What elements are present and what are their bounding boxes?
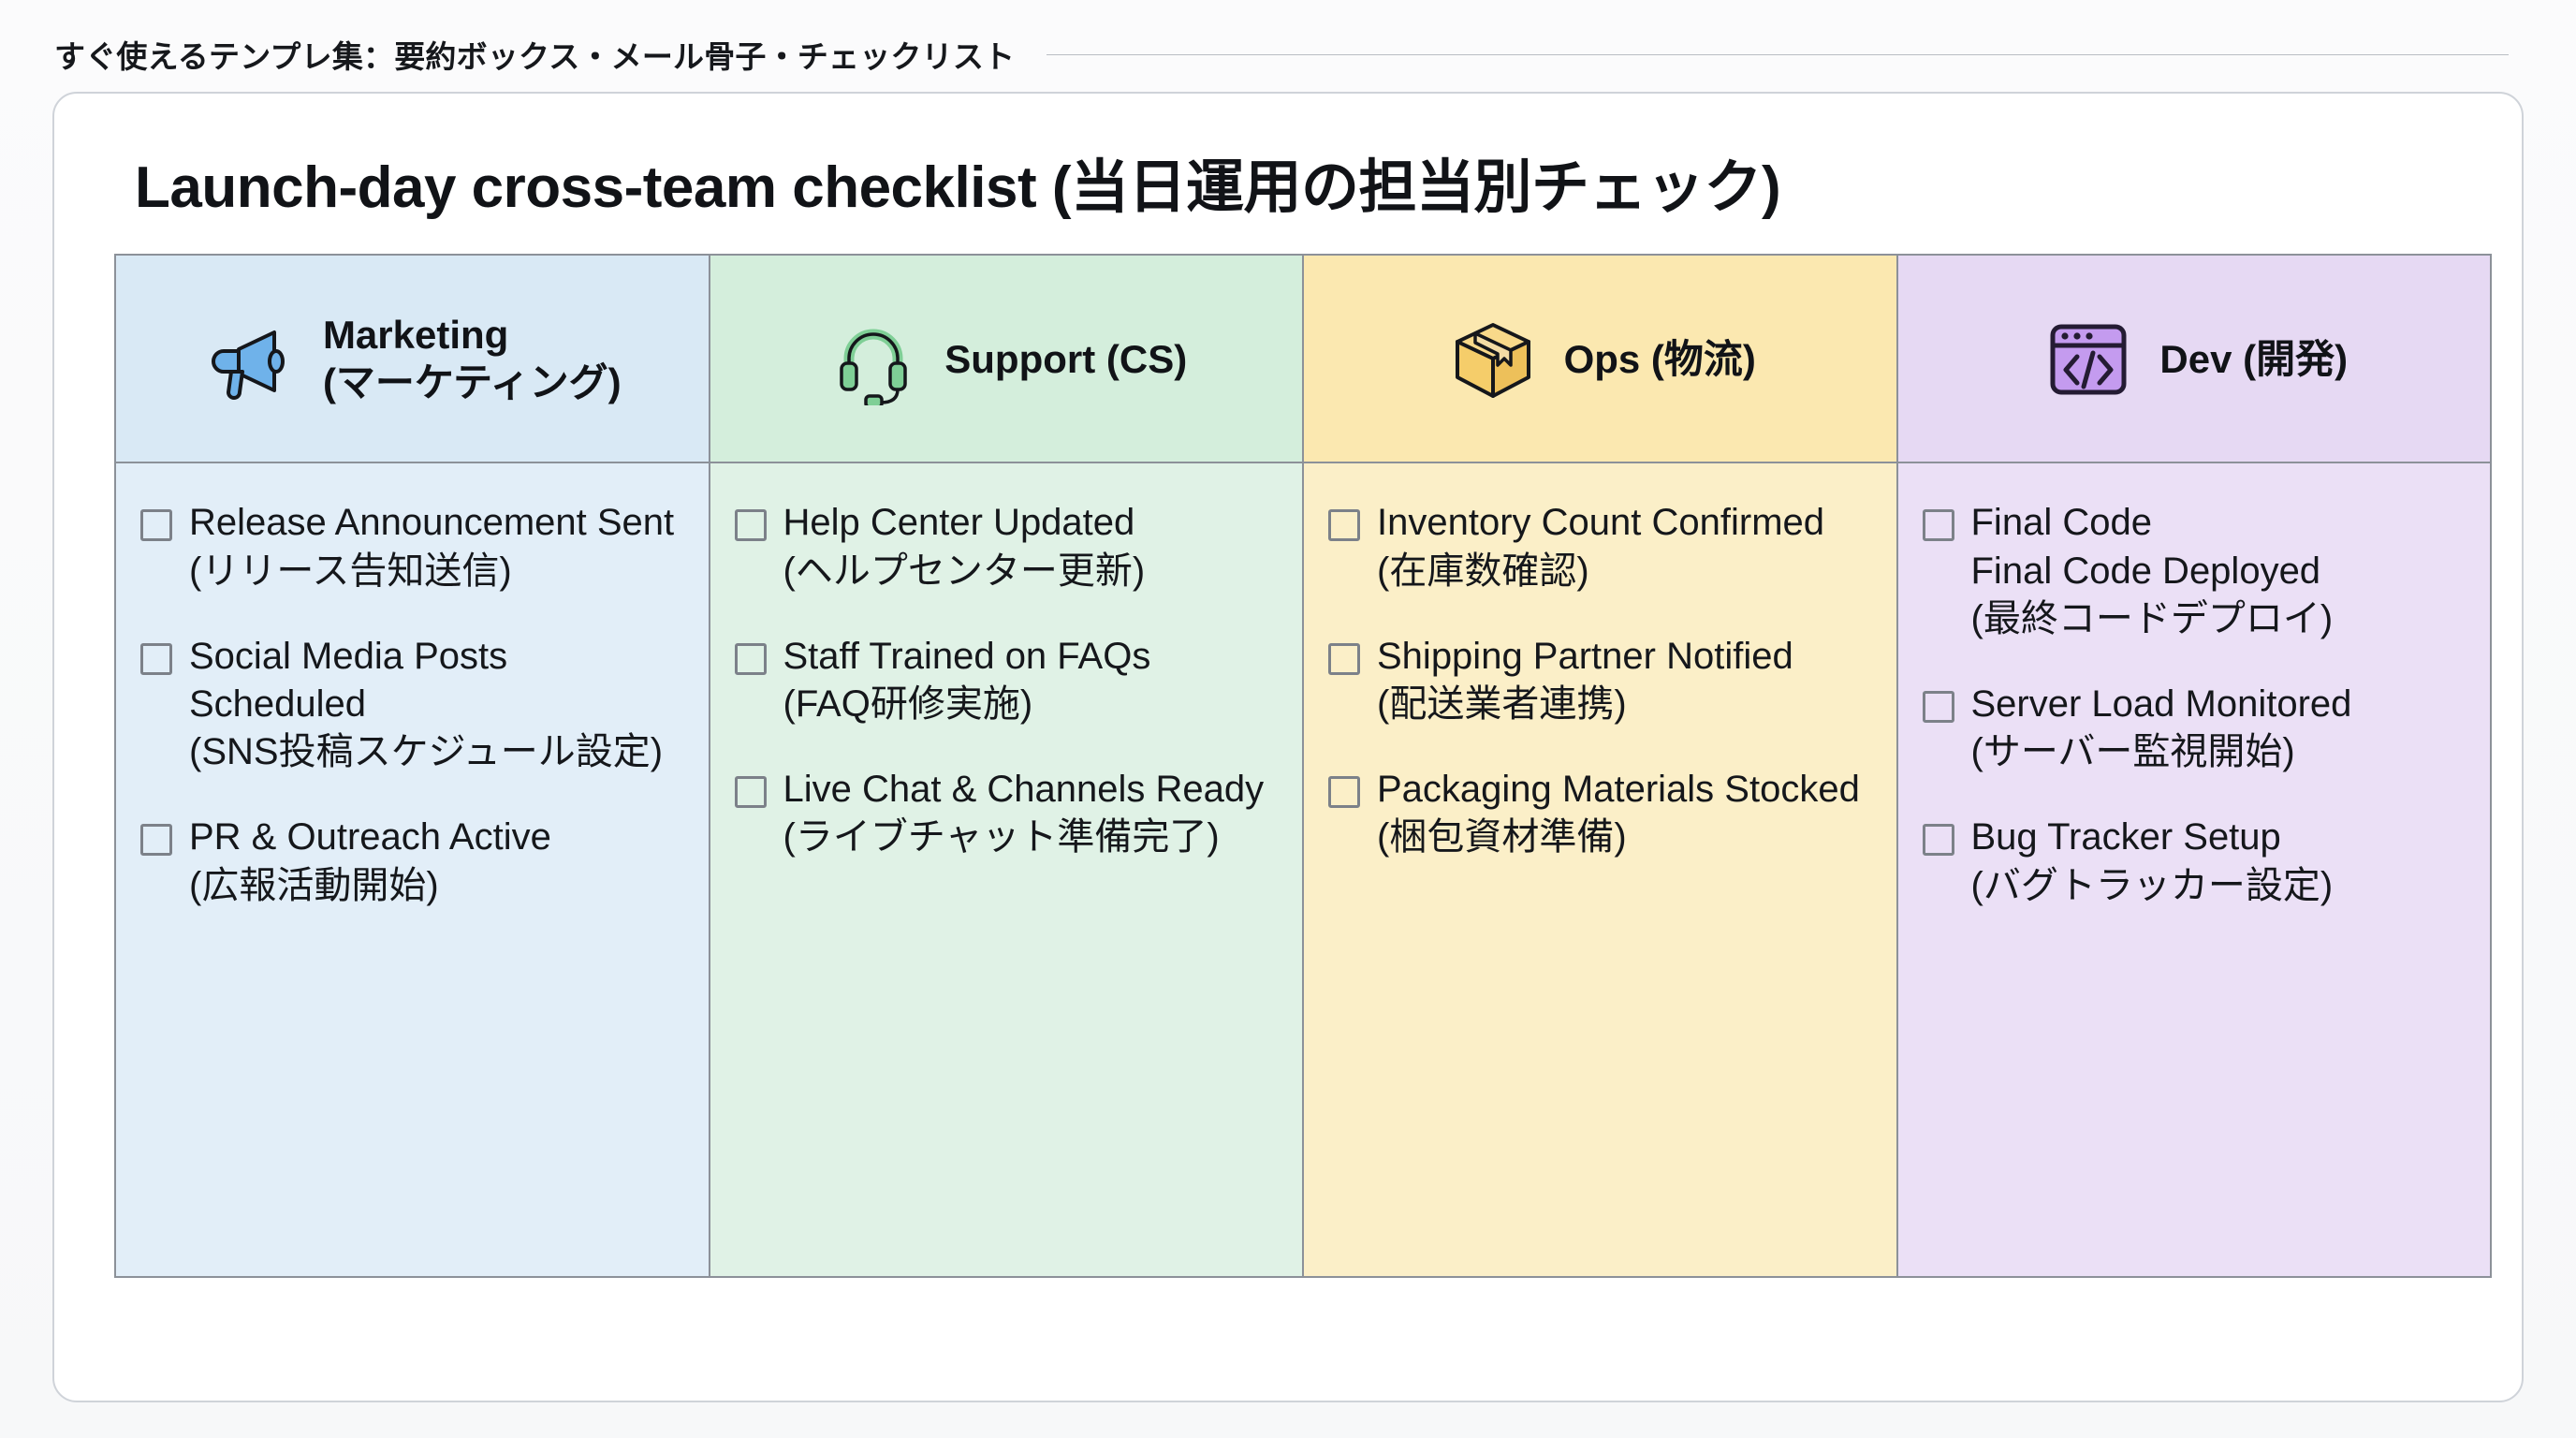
checkbox-icon[interactable] <box>1923 824 1954 856</box>
header-text-jp: (マーケティング) <box>323 359 622 406</box>
column-header-support: Support (CS) <box>710 255 1304 462</box>
item-text-en: Server Load Monitored <box>1971 681 2352 728</box>
list-item-text: Staff Trained on FAQs (FAQ研修実施) <box>783 633 1151 728</box>
list-item[interactable]: Bug Tracker Setup (バグトラッカー設定) <box>1923 814 2463 909</box>
list-item-text: Final Code Final Code Deployed (最終コードデプロ… <box>1971 499 2334 643</box>
header-text-en: Dev (開発) <box>2159 337 2348 381</box>
list-item[interactable]: Server Load Monitored (サーバー監視開始) <box>1923 681 2463 776</box>
list-item-text: Help Center Updated (ヘルプセンター更新) <box>783 499 1146 594</box>
checklist-support: Help Center Updated (ヘルプセンター更新) Staff Tr… <box>735 499 1275 861</box>
header-text-en: Support (CS) <box>944 337 1187 381</box>
checkbox-icon[interactable] <box>140 643 172 675</box>
list-item[interactable]: Live Chat & Channels Ready (ライブチャット準備完了) <box>735 766 1275 861</box>
list-item-text: Inventory Count Confirmed (在庫数確認) <box>1377 499 1824 594</box>
list-item[interactable]: PR & Outreach Active (広報活動開始) <box>140 814 681 909</box>
item-text-jp: (配送業者連携) <box>1377 681 1793 728</box>
column-header-marketing: Marketing (マーケティング) <box>115 255 710 462</box>
code-window-icon <box>2040 310 2137 407</box>
checkbox-icon[interactable] <box>1328 509 1360 541</box>
item-text-jp: (ヘルプセンター更新) <box>783 548 1146 595</box>
column-header-marketing-label: Marketing (マーケティング) <box>323 311 622 406</box>
checkbox-icon[interactable] <box>1328 776 1360 808</box>
page-title: Launch-day cross-team checklist (当日運用の担当… <box>135 155 2462 220</box>
column-header-support-label: Support (CS) <box>944 335 1187 383</box>
megaphone-icon <box>203 310 300 407</box>
column-body-support: Help Center Updated (ヘルプセンター更新) Staff Tr… <box>710 462 1304 1277</box>
item-text-en: Packaging Materials Stocked <box>1377 766 1860 814</box>
column-header-dev: Dev (開発) <box>1897 255 2492 462</box>
list-item-text: Server Load Monitored (サーバー監視開始) <box>1971 681 2352 776</box>
checkbox-icon[interactable] <box>1923 509 1954 541</box>
item-text-en: Social Media Posts Scheduled <box>189 633 681 728</box>
item-text-jp: (広報活動開始) <box>189 862 551 910</box>
checkbox-icon[interactable] <box>1328 643 1360 675</box>
column-header-dev-label: Dev (開発) <box>2159 335 2348 383</box>
list-item[interactable]: Social Media Posts Scheduled (SNS投稿スケジュー… <box>140 633 681 777</box>
checklist-ops: Inventory Count Confirmed (在庫数確認) Shippi… <box>1328 499 1868 861</box>
checkbox-icon[interactable] <box>140 509 172 541</box>
list-item-text: Packaging Materials Stocked (梱包資材準備) <box>1377 766 1860 861</box>
header-divider-rule <box>1046 54 2509 55</box>
checkbox-icon[interactable] <box>735 776 767 808</box>
checkbox-icon[interactable] <box>140 824 172 856</box>
item-text-jp: (バグトラッカー設定) <box>1971 862 2334 910</box>
checklist-table: Marketing (マーケティング) <box>114 254 2492 1278</box>
header-text-en: Ops (物流) <box>1564 337 1756 381</box>
list-item[interactable]: Shipping Partner Notified (配送業者連携) <box>1328 633 1868 728</box>
list-item-text: Social Media Posts Scheduled (SNS投稿スケジュー… <box>189 633 681 777</box>
column-header-ops: Ops (物流) <box>1303 255 1897 462</box>
page-header: すぐ使えるテンプレ集：要約ボックス・メール骨子・チェックリスト <box>0 0 2576 81</box>
header-text-en: Marketing <box>323 313 508 357</box>
headset-icon <box>825 310 922 407</box>
table-body-row: Release Announcement Sent (リリース告知送信) Soc… <box>115 462 2491 1277</box>
item-text-jp: (ライブチャット準備完了) <box>783 814 1265 861</box>
item-text-jp: (在庫数確認) <box>1377 548 1824 595</box>
package-box-icon <box>1444 310 1542 407</box>
checkbox-icon[interactable] <box>1923 691 1954 723</box>
list-item[interactable]: Release Announcement Sent (リリース告知送信) <box>140 499 681 594</box>
table-header-row: Marketing (マーケティング) <box>115 255 2491 462</box>
item-text-jp: (FAQ研修実施) <box>783 681 1151 728</box>
page-header-title: すぐ使えるテンプレ集：要約ボックス・メール骨子・チェックリスト <box>54 32 1015 77</box>
column-body-dev: Final Code Final Code Deployed (最終コードデプロ… <box>1897 462 2492 1277</box>
list-item[interactable]: Inventory Count Confirmed (在庫数確認) <box>1328 499 1868 594</box>
list-item-text: Release Announcement Sent (リリース告知送信) <box>189 499 674 594</box>
list-item[interactable]: Staff Trained on FAQs (FAQ研修実施) <box>735 633 1275 728</box>
column-body-marketing: Release Announcement Sent (リリース告知送信) Soc… <box>115 462 710 1277</box>
item-text-en: Release Announcement Sent <box>189 499 674 547</box>
list-item-text: Bug Tracker Setup (バグトラッカー設定) <box>1971 814 2334 909</box>
item-text-en: PR & Outreach Active <box>189 814 551 861</box>
checkbox-icon[interactable] <box>735 643 767 675</box>
list-item[interactable]: Packaging Materials Stocked (梱包資材準備) <box>1328 766 1868 861</box>
item-text-jp: (サーバー監視開始) <box>1971 728 2352 776</box>
item-text-en: Shipping Partner Notified <box>1377 633 1793 681</box>
item-text-jp: (SNS投稿スケジュール設定) <box>189 728 681 776</box>
page-root: すぐ使えるテンプレ集：要約ボックス・メール骨子・チェックリスト Launch-d… <box>0 0 2576 1438</box>
item-text-en: Help Center Updated <box>783 499 1146 547</box>
item-text-en: Final Code Final Code Deployed <box>1971 499 2334 594</box>
checklist-card: Launch-day cross-team checklist (当日運用の担当… <box>52 92 2524 1402</box>
item-text-jp: (リリース告知送信) <box>189 548 674 595</box>
item-text-en: Inventory Count Confirmed <box>1377 499 1824 547</box>
item-text-jp: (梱包資材準備) <box>1377 814 1860 861</box>
checklist-marketing: Release Announcement Sent (リリース告知送信) Soc… <box>140 499 681 909</box>
list-item-text: Shipping Partner Notified (配送業者連携) <box>1377 633 1793 728</box>
column-body-ops: Inventory Count Confirmed (在庫数確認) Shippi… <box>1303 462 1897 1277</box>
column-header-ops-label: Ops (物流) <box>1564 335 1756 383</box>
checklist-dev: Final Code Final Code Deployed (最終コードデプロ… <box>1923 499 2463 909</box>
list-item[interactable]: Help Center Updated (ヘルプセンター更新) <box>735 499 1275 594</box>
item-text-en: Live Chat & Channels Ready <box>783 766 1265 814</box>
item-text-en: Staff Trained on FAQs <box>783 633 1151 681</box>
item-text-jp: (最終コードデプロイ) <box>1971 595 2334 643</box>
list-item-text: Live Chat & Channels Ready (ライブチャット準備完了) <box>783 766 1265 861</box>
list-item[interactable]: Final Code Final Code Deployed (最終コードデプロ… <box>1923 499 2463 643</box>
checkbox-icon[interactable] <box>735 509 767 541</box>
item-text-en: Bug Tracker Setup <box>1971 814 2334 861</box>
list-item-text: PR & Outreach Active (広報活動開始) <box>189 814 551 909</box>
